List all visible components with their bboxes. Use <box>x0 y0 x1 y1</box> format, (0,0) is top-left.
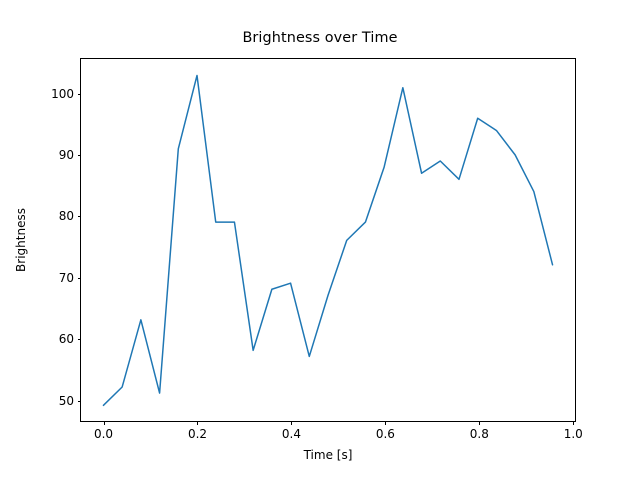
x-tick-mark <box>291 421 292 425</box>
x-tick-label: 1.0 <box>564 427 583 441</box>
x-tick-mark <box>573 421 574 425</box>
x-tick-mark <box>479 421 480 425</box>
y-tick-mark <box>78 339 82 340</box>
y-tick-mark <box>78 155 82 156</box>
x-axis-label: Time [s] <box>80 448 576 462</box>
x-tick-mark <box>197 421 198 425</box>
x-tick-label: 0.2 <box>188 427 207 441</box>
y-tick-label: 90 <box>59 148 74 162</box>
y-axis-label: Brightness <box>14 58 28 423</box>
y-tick-label: 50 <box>59 394 74 408</box>
x-tick-mark <box>385 421 386 425</box>
x-tick-label: 0.6 <box>376 427 395 441</box>
plot-axes: 50607080901000.00.20.40.60.81.0 <box>80 58 576 423</box>
y-tick-mark <box>78 278 82 279</box>
brightness-line <box>103 75 552 405</box>
y-tick-mark <box>78 401 82 402</box>
line-series-svg <box>81 59 575 422</box>
x-tick-mark <box>104 421 105 425</box>
figure-canvas: Brightness over Time Brightness 50607080… <box>0 0 640 480</box>
y-tick-mark <box>78 216 82 217</box>
y-tick-mark <box>78 94 82 95</box>
y-tick-label: 80 <box>59 209 74 223</box>
x-tick-label: 0.8 <box>470 427 489 441</box>
x-tick-label: 0.4 <box>282 427 301 441</box>
x-tick-label: 0.0 <box>94 427 113 441</box>
chart-title: Brightness over Time <box>0 30 640 46</box>
y-tick-label: 70 <box>59 271 74 285</box>
y-tick-label: 60 <box>59 332 74 346</box>
y-tick-label: 100 <box>51 87 74 101</box>
y-axis-label-text: Brightness <box>14 208 28 272</box>
x-axis-label-text: Time [s] <box>304 448 353 462</box>
